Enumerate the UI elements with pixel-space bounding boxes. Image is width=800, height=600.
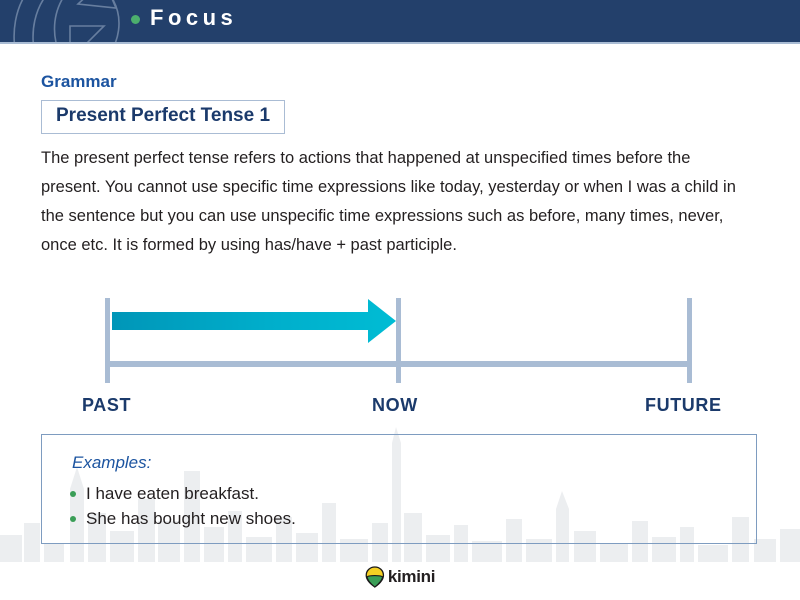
- examples-heading: Examples:: [72, 453, 151, 473]
- list-item: She has bought new shoes.: [68, 506, 296, 531]
- slide-content: Grammar Present Perfect Tense 1 The pres…: [0, 42, 800, 562]
- timeline-label-future: FUTURE: [645, 395, 722, 416]
- timeline-graphic: [0, 290, 800, 400]
- header-bullet-dot: [131, 15, 140, 24]
- section-label: Grammar: [41, 72, 117, 92]
- lesson-title-box: Present Perfect Tense 1: [41, 100, 285, 134]
- page-title: Focus: [150, 5, 237, 31]
- timeline-tick-future: [687, 298, 692, 383]
- timeline-baseline: [105, 361, 692, 367]
- list-item: I have eaten breakfast.: [68, 481, 296, 506]
- examples-list: I have eaten breakfast. She has bought n…: [68, 481, 296, 531]
- brand-logo: kimini: [365, 566, 435, 588]
- brand-swirl-icon: [8, 0, 128, 42]
- brand-name: kimini: [388, 567, 435, 587]
- past-to-now-arrow: [112, 299, 396, 343]
- examples-box: Examples: I have eaten breakfast. She ha…: [41, 434, 757, 544]
- timeline-label-now: NOW: [372, 395, 418, 416]
- lesson-title: Present Perfect Tense 1: [56, 105, 270, 126]
- kimini-pin-icon: [365, 566, 385, 588]
- tense-timeline-diagram: PAST NOW FUTURE: [0, 290, 800, 420]
- page-header: Focus: [0, 0, 800, 42]
- timeline-tick-now: [396, 298, 401, 383]
- timeline-label-past: PAST: [82, 395, 131, 416]
- lesson-body-text: The present perfect tense refers to acti…: [41, 144, 753, 260]
- timeline-tick-past: [105, 298, 110, 383]
- page-footer: kimini: [0, 558, 800, 600]
